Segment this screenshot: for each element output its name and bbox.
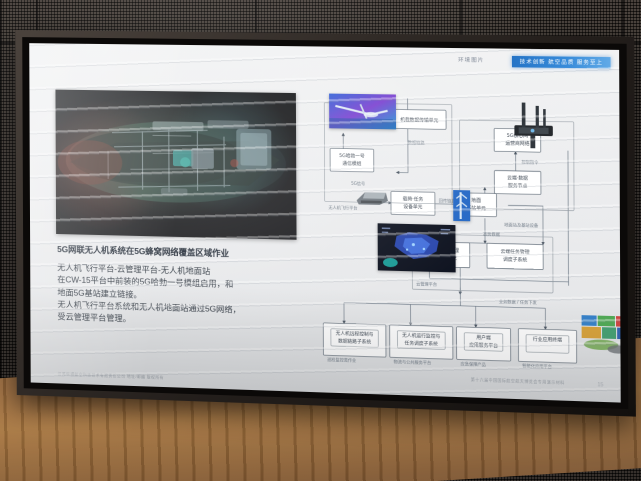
svg-text:数据链路: 数据链路 (408, 139, 425, 146)
svg-text:5G信号: 5G信号 (351, 180, 365, 187)
photo-of-led-video-wall: 环境图片 技术创新 航空品质 服务至上 (0, 0, 641, 481)
thumbnail-antenna-tower (453, 190, 470, 221)
svg-text:无人机飞行平台: 无人机飞行平台 (328, 204, 357, 211)
svg-text:控制指令: 控制指令 (521, 158, 538, 165)
thumbnail-uav-in-flight (329, 94, 396, 130)
svg-text:云管理平台: 云管理平台 (416, 280, 437, 287)
architecture-flow-diagram: 飞行平台 机载数据传输单元 5G哈勃一号通信模组 载荷·任务设备单元 地面基站单… (317, 89, 612, 383)
svg-text:态势数据: 态势数据 (483, 230, 500, 237)
slide-text-block: 5G网联无人机系统在5G蜂窝网络覆盖区域作业 无人机飞行平台-云管理平台-无人机… (57, 243, 325, 332)
svg-text:智能化应用平台: 智能化应用平台 (522, 362, 552, 369)
svg-text:地面站及基站设备: 地面站及基站设备 (504, 221, 538, 228)
thumbnail-5g-base-station (508, 100, 564, 149)
brand-slogan-bar: 技术创新 航空品质 服务至上 (512, 56, 610, 69)
slide-title: 5G网联无人机系统在5G蜂窝网络覆盖区域作业 (57, 243, 324, 262)
svg-text:应急保障产品: 应急保障产品 (461, 360, 486, 367)
presentation-slide: 环境图片 技术创新 航空品质 服务至上 (29, 43, 620, 402)
svg-text:业务数据 / 任务下发: 业务数据 / 任务下发 (499, 298, 537, 305)
led-video-wall[interactable]: 环境图片 技术创新 航空品质 服务至上 (15, 30, 636, 417)
hero-photo-uav-internals (55, 90, 296, 240)
screen-panel: 环境图片 技术创新 航空品质 服务至上 (29, 43, 620, 402)
thumbnail-china-map-dashboard (378, 223, 456, 272)
svg-text:物流与公共服务平台: 物流与公共服务平台 (394, 358, 432, 365)
thumbnail-application-collage (579, 313, 620, 356)
slide-kicker-label: 环境图片 (458, 56, 484, 64)
svg-text:巡检监控类作业: 巡检监控类作业 (327, 356, 356, 363)
slide-footer-left: 江苏纵横航空科技技术有限责任公司 地址/邮编 版权所有 (58, 372, 164, 381)
thumbnail-ground-control-station (354, 188, 390, 207)
